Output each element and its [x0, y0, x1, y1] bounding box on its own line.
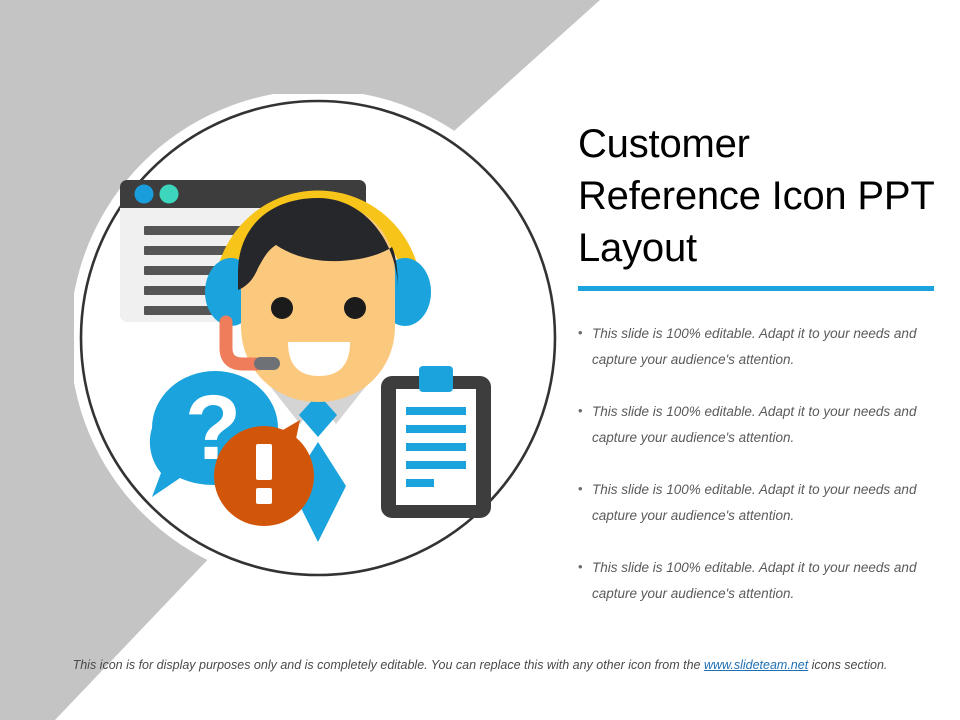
- slideteam-link[interactable]: www.slideteam.net: [704, 658, 808, 672]
- browser-dot-teal-icon: [160, 185, 179, 204]
- footer-text-after: icons section.: [808, 658, 887, 672]
- customer-support-illustration: ?: [74, 94, 562, 582]
- agent-head: [238, 198, 398, 402]
- list-item: • This slide is 100% editable. Adapt it …: [578, 477, 940, 529]
- footer-text-before: This icon is for display purposes only a…: [73, 658, 704, 672]
- bullet-list: • This slide is 100% editable. Adapt it …: [578, 321, 940, 607]
- list-item: • This slide is 100% editable. Adapt it …: [578, 321, 940, 373]
- bullet-marker-icon: •: [578, 477, 592, 501]
- bullet-text: This slide is 100% editable. Adapt it to…: [592, 321, 940, 373]
- page-title: Customer Reference Icon PPT Layout: [578, 118, 940, 274]
- eye-left-icon: [271, 297, 293, 319]
- bullet-marker-icon: •: [578, 555, 592, 579]
- clipboard-icon: [381, 366, 491, 518]
- bullet-text: This slide is 100% editable. Adapt it to…: [592, 399, 940, 451]
- clipboard-clip: [419, 366, 453, 392]
- mic-tip: [254, 357, 280, 370]
- slide-canvas: ? Customer Refe: [0, 0, 960, 720]
- bullet-marker-icon: •: [578, 321, 592, 345]
- bullet-text: This slide is 100% editable. Adapt it to…: [592, 477, 940, 529]
- browser-dot-blue-icon: [135, 185, 154, 204]
- footer-note: This icon is for display purposes only a…: [0, 655, 960, 676]
- title-accent-rule: [578, 286, 934, 291]
- list-item: • This slide is 100% editable. Adapt it …: [578, 555, 940, 607]
- bullet-text: This slide is 100% editable. Adapt it to…: [592, 555, 940, 607]
- text-column: Customer Reference Icon PPT Layout • Thi…: [578, 118, 940, 633]
- eye-right-icon: [344, 297, 366, 319]
- list-item: • This slide is 100% editable. Adapt it …: [578, 399, 940, 451]
- alert-bubble-glyph: [256, 444, 272, 504]
- bullet-marker-icon: •: [578, 399, 592, 423]
